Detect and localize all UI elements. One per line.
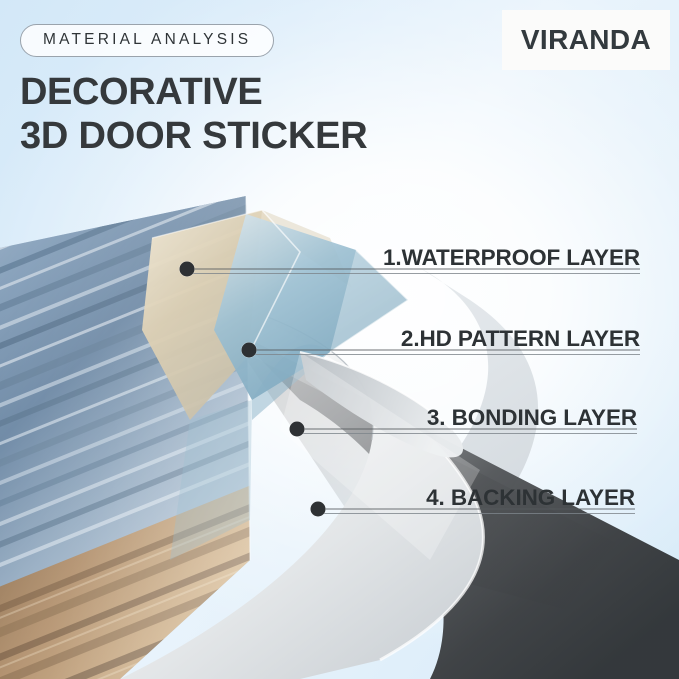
material-analysis-badge: MATERIAL ANALYSIS	[20, 24, 274, 57]
callout-label-bonding: 3. BONDING LAYER	[0, 405, 637, 431]
callout-label-backing: 4. BACKING LAYER	[0, 485, 635, 511]
brand-name: VIRANDA	[521, 24, 651, 56]
brand-logo: VIRANDA	[502, 10, 670, 70]
callout-rule-waterproof	[187, 273, 640, 274]
page-title-line1: DECORATIVE	[20, 70, 367, 114]
page-title: DECORATIVE 3D DOOR STICKER	[20, 70, 367, 158]
callout-rule-bonding	[297, 433, 637, 434]
infographic-canvas: MATERIAL ANALYSIS DECORATIVE 3D DOOR STI…	[0, 0, 679, 679]
callout-label-waterproof: 1.WATERPROOF LAYER	[0, 245, 640, 271]
callout-label-hd-pattern: 2.HD PATTERN LAYER	[0, 326, 640, 352]
callout-rule-hd-pattern	[249, 354, 640, 355]
page-title-line2: 3D DOOR STICKER	[20, 114, 367, 158]
callout-rule-backing	[318, 513, 635, 514]
